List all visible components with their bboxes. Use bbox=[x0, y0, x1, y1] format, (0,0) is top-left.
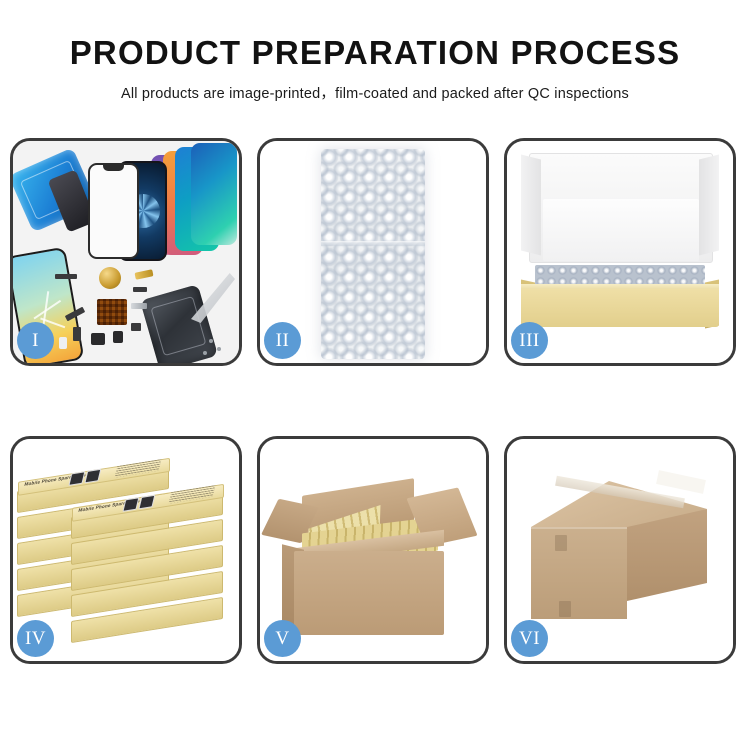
step-badge-4: IV bbox=[17, 620, 54, 657]
step-panel-5: V bbox=[257, 436, 489, 664]
step-badge-6: VI bbox=[511, 620, 548, 657]
process-steps-grid: I II bbox=[10, 138, 740, 693]
carton-handle-notch bbox=[555, 535, 567, 551]
open-carton-body-image bbox=[294, 551, 444, 635]
box-lid-flap-right bbox=[699, 155, 719, 256]
copper-coil-part-image bbox=[99, 267, 121, 289]
bubble-wrap-sheet-image bbox=[321, 149, 425, 359]
step-badge-2: II bbox=[264, 322, 301, 359]
page-header: PRODUCT PREPARATION PROCESS All products… bbox=[0, 0, 750, 103]
step-panel-6: VI bbox=[504, 436, 736, 664]
box-lid-flap-left bbox=[521, 155, 541, 256]
step-6-image: VI bbox=[507, 439, 733, 661]
tempered-glass-screen-image bbox=[88, 163, 139, 259]
sim-tray-part-image bbox=[59, 337, 67, 349]
step-4-image: Mobile Phone Spare Parts bbox=[13, 439, 239, 661]
step-panel-3: III bbox=[504, 138, 736, 366]
speaker-module-part-image bbox=[91, 333, 105, 345]
camera-module-part-image bbox=[113, 331, 123, 343]
screw-part-image bbox=[217, 347, 221, 351]
foam-sheet-image bbox=[543, 199, 699, 261]
sealed-carton-front bbox=[531, 527, 627, 619]
kraft-box-front-image bbox=[521, 289, 719, 327]
product-process-page: PRODUCT PREPARATION PROCESS All products… bbox=[0, 0, 750, 750]
step-badge-5: V bbox=[264, 620, 301, 657]
step-badge-1: I bbox=[17, 322, 54, 359]
step-3-image: III bbox=[507, 141, 733, 363]
flex-cable-part-image bbox=[55, 274, 77, 279]
step-badge-3: III bbox=[511, 322, 548, 359]
carton-tape-overhang bbox=[656, 470, 706, 494]
metal-bracket-part-image bbox=[131, 303, 147, 309]
carton-seam bbox=[531, 527, 627, 529]
page-title: PRODUCT PREPARATION PROCESS bbox=[0, 36, 750, 71]
step-panel-1: I bbox=[10, 138, 242, 366]
step-panel-2: II bbox=[257, 138, 489, 366]
small-flex-part-image bbox=[133, 287, 147, 292]
step-5-image: V bbox=[260, 439, 486, 661]
button-flex-part-image bbox=[73, 327, 81, 341]
screw-part-image bbox=[203, 351, 207, 355]
screw-part-image bbox=[209, 339, 213, 343]
wrap-seam bbox=[321, 241, 425, 246]
vibrator-part-image bbox=[131, 323, 141, 331]
step-panel-4: Mobile Phone Spare Parts bbox=[10, 436, 242, 664]
box-label-spec-lines bbox=[115, 459, 162, 477]
gold-connector-part-image bbox=[134, 269, 153, 280]
bubble-pattern-offset bbox=[321, 149, 425, 359]
carton-handle-notch bbox=[559, 601, 571, 617]
box-stack-right: Mobile Phone Spare Parts bbox=[71, 497, 233, 647]
step-1-image: I bbox=[13, 141, 239, 363]
teal-gradient-phone-2-image bbox=[191, 143, 237, 245]
page-subtitle: All products are image-printed，film-coat… bbox=[0, 82, 750, 103]
step-2-image: II bbox=[260, 141, 486, 363]
shield-mesh-part-image bbox=[97, 299, 127, 325]
box-label-spec-lines bbox=[169, 485, 216, 503]
